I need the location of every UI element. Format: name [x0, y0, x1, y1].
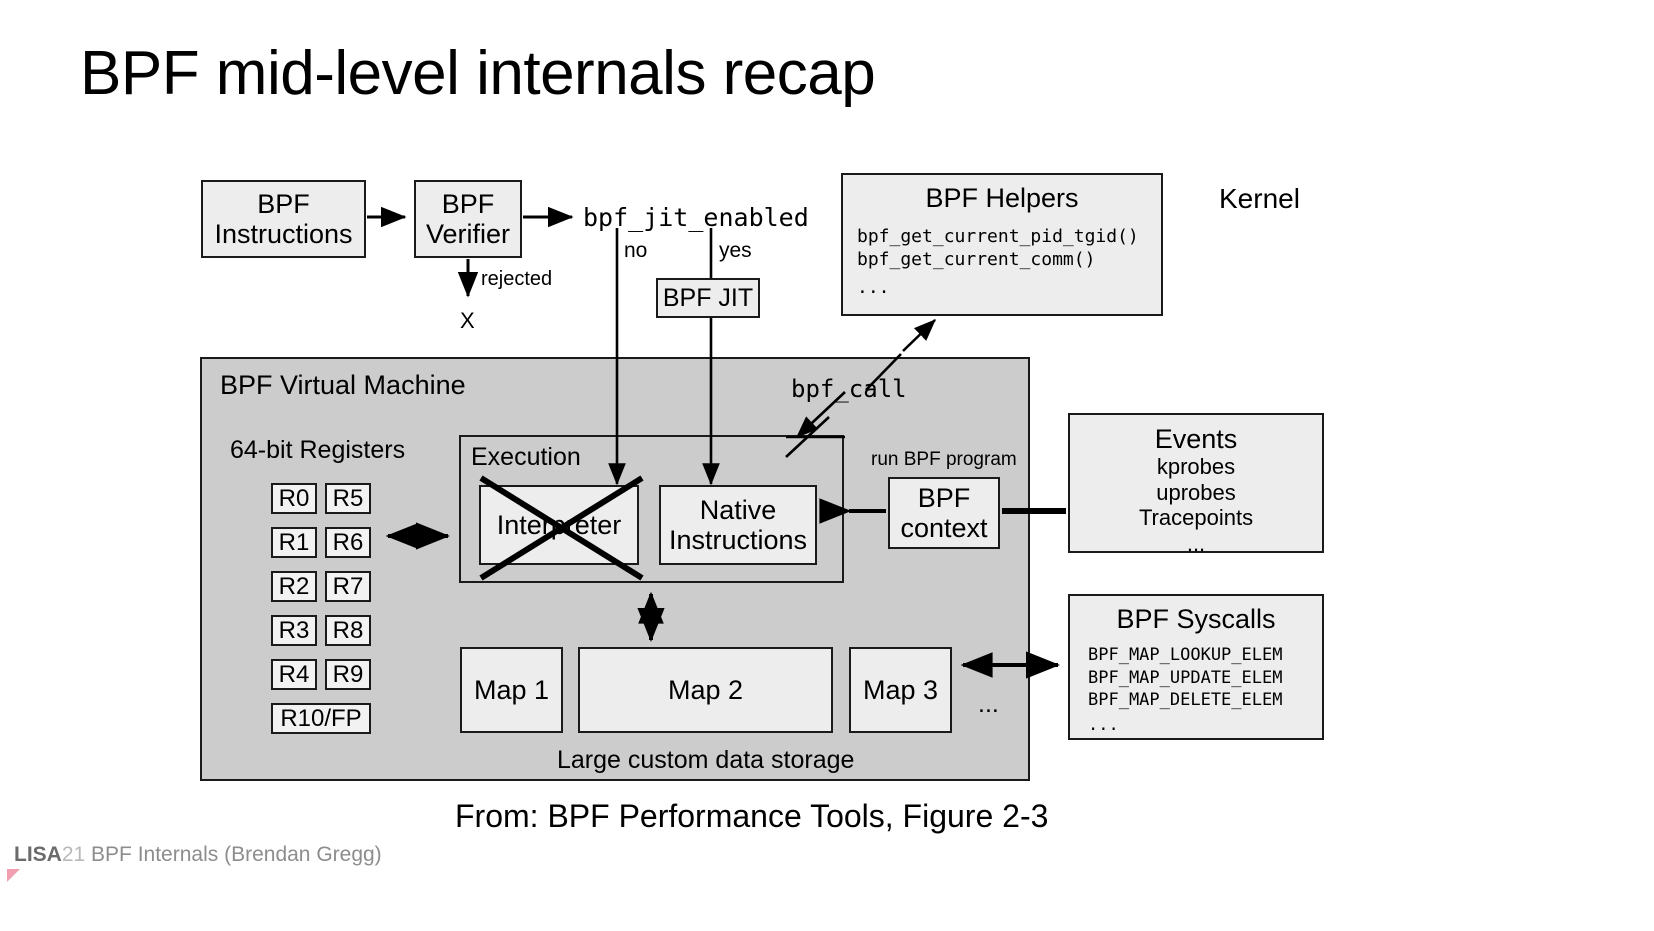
events-line-4: ...	[1187, 531, 1205, 557]
footer-year: 21	[62, 843, 85, 866]
bpf-instructions-line2: Instructions	[214, 219, 352, 249]
bpf-syscalls-line-4: ...	[1088, 714, 1322, 737]
map-1-box: Map 1	[460, 647, 563, 733]
bpf-helpers-line-1: bpf_get_current_pid_tgid()	[857, 226, 1161, 249]
bpf-context-box: BPF context	[888, 477, 1000, 549]
rejected-label: rejected	[481, 268, 552, 291]
register-r4: R4	[271, 659, 317, 690]
bpf-verifier-box: BPF Verifier	[414, 180, 522, 258]
bpf-syscalls-box: BPF Syscalls BPF_MAP_LOOKUP_ELEM BPF_MAP…	[1068, 594, 1324, 740]
bpf-context-line1: BPF	[918, 483, 971, 513]
register-r3: R3	[271, 615, 317, 646]
bpf-helpers-box: BPF Helpers bpf_get_current_pid_tgid() b…	[841, 173, 1163, 316]
native-instructions-line2: Instructions	[669, 525, 807, 555]
yes-label: yes	[719, 239, 752, 263]
bpf-instructions-line1: BPF	[257, 189, 310, 219]
bpf-syscalls-line-3: BPF_MAP_DELETE_ELEM	[1088, 689, 1322, 712]
map-3-box: Map 3	[849, 647, 952, 733]
interpreter-box: Interpreter	[479, 485, 639, 565]
interpreter-label: Interpreter	[497, 510, 622, 540]
register-r0: R0	[271, 483, 317, 514]
bpf-virtual-machine-label: BPF Virtual Machine	[220, 370, 466, 401]
bpf-helpers-line-2: bpf_get_current_comm()	[857, 249, 1161, 272]
no-label: no	[624, 239, 647, 263]
footer-text: BPF Internals (Brendan Gregg)	[85, 843, 381, 866]
bpf-verifier-line2: Verifier	[426, 219, 510, 249]
events-title: Events	[1155, 424, 1238, 454]
source-note: From: BPF Performance Tools, Figure 2-3	[455, 798, 1048, 835]
bpf-context-line2: context	[900, 513, 987, 543]
bpf-instructions-box: BPF Instructions	[201, 180, 366, 258]
register-r10-fp: R10/FP	[271, 703, 371, 734]
bpf-jit-box: BPF JIT	[656, 278, 760, 318]
bpf-helpers-title: BPF Helpers	[843, 183, 1161, 213]
events-line-1: kprobes	[1157, 454, 1235, 480]
native-instructions-line1: Native	[700, 495, 777, 525]
bpf-syscalls-line-2: BPF_MAP_UPDATE_ELEM	[1088, 667, 1322, 690]
rejected-mark: X	[460, 308, 475, 334]
bpf-syscalls-title: BPF Syscalls	[1070, 604, 1322, 634]
register-r5: R5	[325, 483, 371, 514]
page-title: BPF mid-level internals recap	[80, 38, 875, 109]
run-bpf-program-label: run BPF program	[871, 449, 1017, 471]
register-r9: R9	[325, 659, 371, 690]
events-line-2: uprobes	[1156, 480, 1236, 506]
execution-label: Execution	[471, 443, 581, 472]
native-instructions-box: Native Instructions	[659, 485, 817, 565]
kernel-label: Kernel	[1219, 183, 1300, 215]
footer: LISA21 BPF Internals (Brendan Gregg)	[14, 843, 382, 867]
lisa-triangle-icon	[7, 869, 20, 882]
register-r7: R7	[325, 571, 371, 602]
footer-brand: LISA	[14, 843, 62, 866]
map-2-box: Map 2	[578, 647, 833, 733]
events-line-3: Tracepoints	[1139, 505, 1253, 531]
maps-ellipsis: ...	[978, 690, 999, 719]
events-box: Events kprobes uprobes Tracepoints ...	[1068, 413, 1324, 553]
register-r1: R1	[271, 527, 317, 558]
register-r6: R6	[325, 527, 371, 558]
bpf-verifier-line1: BPF	[442, 189, 495, 219]
registers-label: 64-bit Registers	[230, 436, 405, 465]
slide-canvas: BPF mid-level internals recap BPF Virtua…	[0, 0, 1654, 931]
bpf-syscalls-line-1: BPF_MAP_LOOKUP_ELEM	[1088, 644, 1322, 667]
bpf-call-label: bpf_call	[791, 375, 907, 403]
register-r2: R2	[271, 571, 317, 602]
bpf-helpers-line-3: ...	[857, 277, 1161, 300]
bpf-jit-enabled-label: bpf_jit_enabled	[583, 203, 809, 232]
register-r8: R8	[325, 615, 371, 646]
storage-label: Large custom data storage	[557, 746, 854, 775]
